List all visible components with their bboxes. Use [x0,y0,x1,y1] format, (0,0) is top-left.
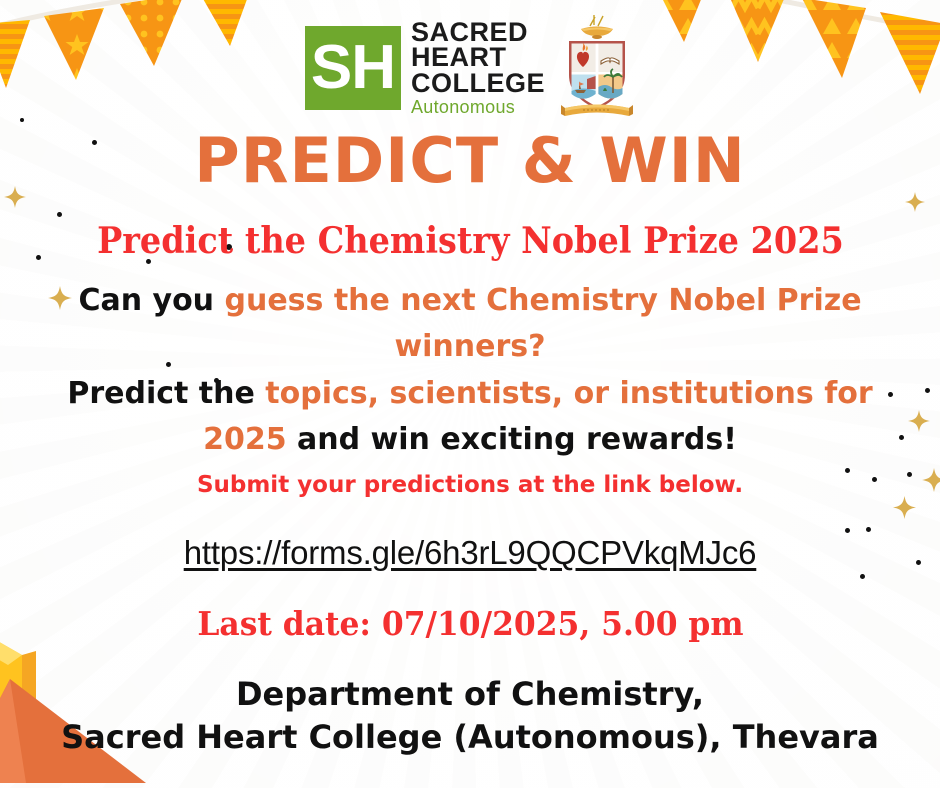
body1-black-prefix: Can you [78,283,224,318]
department-line-2: Sacred Heart College (Autonomous), Theva… [61,716,879,758]
body-paragraph-1: Can you guess the next Chemistry Nobel P… [60,278,880,369]
body2-black-suffix: and win exciting rewards! [287,422,737,457]
logo-line-autonomous: Autonomous [411,99,545,116]
department-footer: Department of Chemistry, Sacred Heart Co… [61,673,879,757]
logo-wordmark: SACRED HEART COLLEGE Autonomous [411,20,545,117]
form-link[interactable]: https://forms.gle/6h3rL9QQCPVkqMJc6 [184,534,757,572]
poster-content: SH SACRED HEART COLLEGE Autonomous [0,0,940,788]
logo-monogram: SH [305,26,401,110]
deadline-text: Last date: 07/10/2025, 5.00 pm [197,604,743,643]
college-logo: SH SACRED HEART COLLEGE Autonomous [305,14,635,122]
body1-orange-text: guess the next Chemistry Nobel Prize win… [224,283,861,364]
department-line-1: Department of Chemistry, [61,673,879,715]
page-title: PREDICT & WIN [194,130,745,192]
body-paragraph-2: Predict the topics, scientists, or insti… [60,371,880,462]
crest-icon [559,13,635,123]
logo-line-college: COLLEGE [411,71,545,97]
poster-canvas: SH SACRED HEART COLLEGE Autonomous [0,0,940,788]
submit-instruction: Submit your predictions at the link belo… [197,472,743,498]
body2-black-prefix: Predict the [67,376,265,411]
subtitle: Predict the Chemistry Nobel Prize 2025 [97,220,844,262]
